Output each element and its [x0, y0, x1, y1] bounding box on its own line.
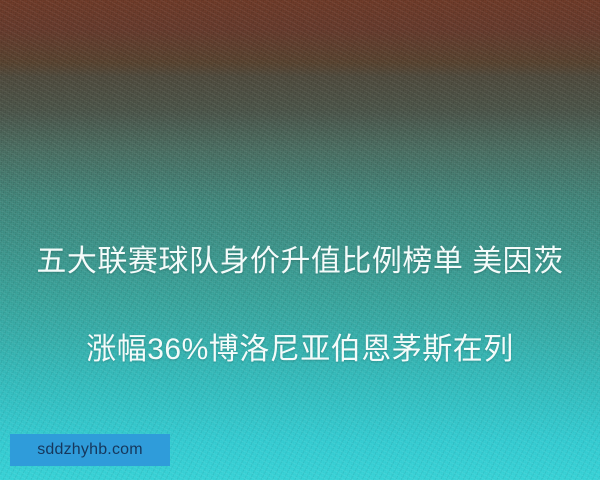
- thumbnail-banner: 五大联赛球队身价升值比例榜单 美因茨 涨幅36%博洛尼亚伯恩茅斯在列 sddzh…: [0, 0, 600, 480]
- headline: 五大联赛球队身价升值比例榜单 美因茨 涨幅36%博洛尼亚伯恩茅斯在列: [0, 196, 600, 416]
- watermark-badge: sddzhyhb.com: [10, 434, 170, 466]
- watermark-domain-text: sddzhyhb.com: [37, 442, 143, 458]
- headline-line-1: 五大联赛球队身价升值比例榜单 美因茨: [0, 240, 600, 284]
- headline-line-2: 涨幅36%博洛尼亚伯恩茅斯在列: [0, 328, 600, 372]
